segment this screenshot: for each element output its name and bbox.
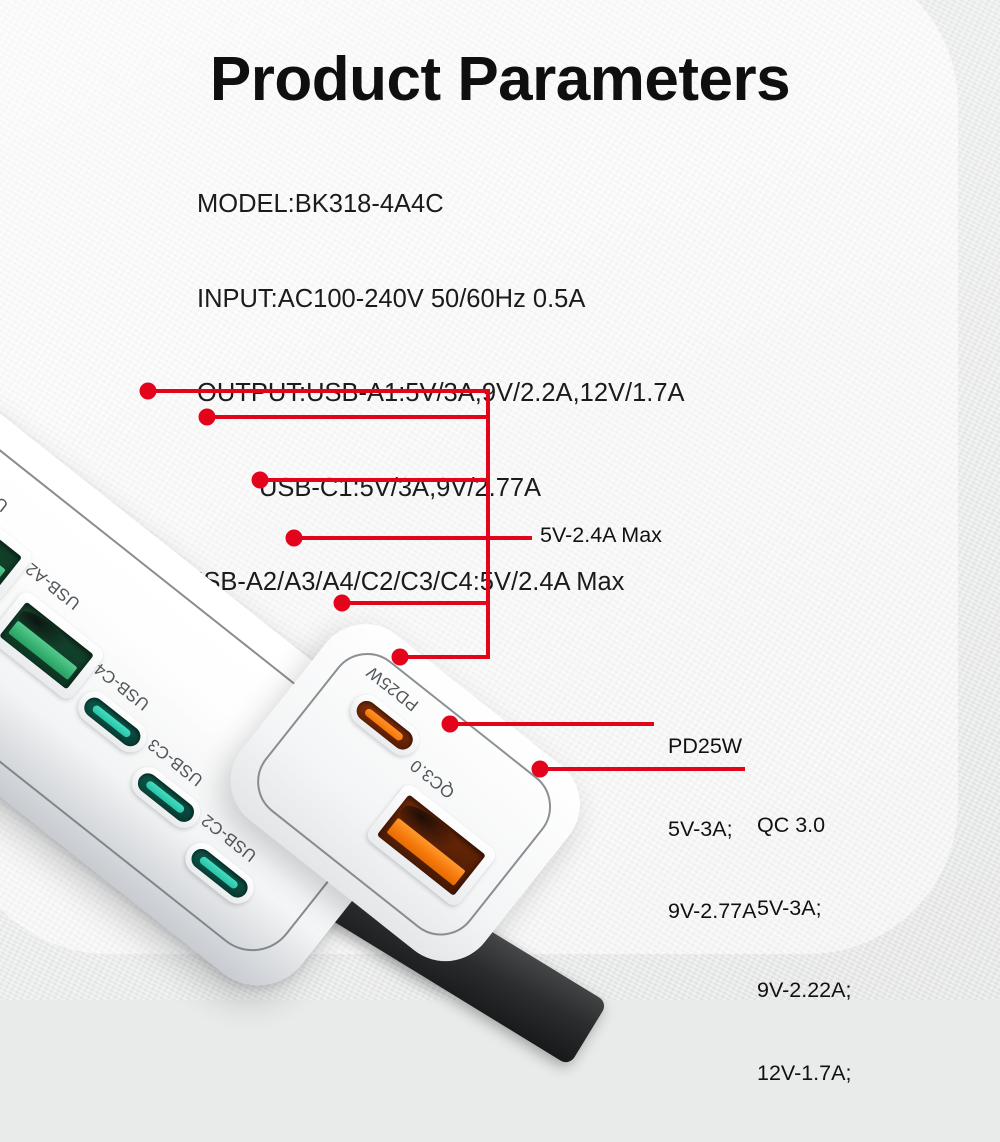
charger-illustration: USB-A4 USB-A3 USB-A2 USB-C4	[0, 0, 1000, 1000]
callout-qc-line4: 12V-1.7A;	[757, 1060, 851, 1088]
